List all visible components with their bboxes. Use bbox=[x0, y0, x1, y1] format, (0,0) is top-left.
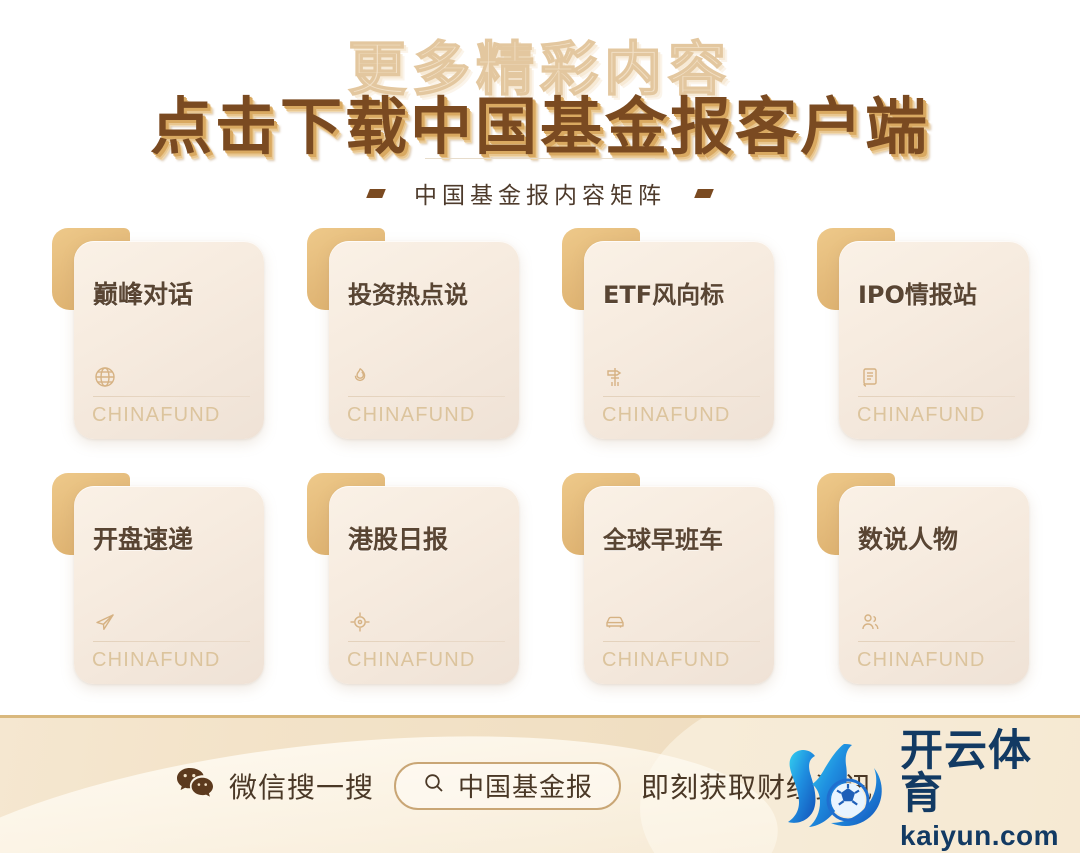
card-title: 巅峰对话 bbox=[93, 275, 193, 311]
card-grid: 巅峰对话 CHINAFUND bbox=[52, 228, 1037, 688]
card-brand: CHINAFUND bbox=[602, 649, 731, 672]
card-divider bbox=[858, 396, 1015, 397]
wechat-icon bbox=[175, 766, 215, 805]
card-divider bbox=[603, 396, 760, 397]
subtitle: 中国基金报内容矩阵 bbox=[414, 176, 666, 210]
bottom-bar: 微信搜一搜 中国基金报 即刻获取财经资讯 bbox=[0, 715, 1080, 853]
triple-left-arrow-icon bbox=[242, 371, 248, 383]
flame-icon bbox=[348, 365, 372, 389]
card-meta bbox=[93, 363, 248, 391]
card-divider bbox=[603, 641, 760, 642]
card-divider bbox=[93, 396, 250, 397]
card-slot: 全球早班车 CHINAFUND bbox=[562, 473, 774, 688]
poster-root: 更多精彩内容 点击下载中国基金报客户端 中国基金报内容矩阵 巅峰对话 bbox=[0, 0, 1080, 853]
card-slot: IPO情报站 CHINAFUND bbox=[817, 228, 1029, 443]
card-divider bbox=[348, 641, 505, 642]
search-pill[interactable]: 中国基金报 bbox=[394, 762, 621, 810]
header: 更多精彩内容 点击下载中国基金报客户端 中国基金报内容矩阵 bbox=[0, 0, 1080, 230]
card-title: 开盘速递 bbox=[93, 520, 193, 556]
search-icon bbox=[422, 771, 446, 800]
car-icon bbox=[603, 610, 627, 634]
document-icon bbox=[858, 365, 882, 389]
triple-left-arrow-icon bbox=[497, 371, 503, 383]
users-icon bbox=[858, 610, 882, 634]
content-card[interactable]: IPO情报站 CHINAFUND bbox=[839, 241, 1029, 439]
card-meta bbox=[348, 608, 503, 636]
page-title: 点击下载中国基金报客户端 bbox=[0, 76, 1080, 166]
card-title: 全球早班车 bbox=[603, 520, 723, 555]
card-divider bbox=[348, 396, 505, 397]
content-card[interactable]: 开盘速递 CHINAFUND bbox=[74, 486, 264, 684]
card-title: ETF风向标 bbox=[603, 275, 724, 310]
card-meta bbox=[858, 608, 1013, 636]
triple-left-arrow-icon bbox=[242, 616, 248, 628]
target-icon bbox=[348, 610, 372, 634]
card-brand: CHINAFUND bbox=[92, 649, 221, 672]
wechat-search-prompt: 微信搜一搜 bbox=[229, 766, 374, 806]
card-title: 投资热点说 bbox=[348, 275, 468, 310]
dash-right-icon bbox=[694, 189, 714, 198]
content-card[interactable]: 港股日报 CHINAFUND bbox=[329, 486, 519, 684]
triple-left-arrow-icon bbox=[1007, 616, 1013, 628]
card-meta bbox=[603, 363, 758, 391]
triple-left-arrow-icon bbox=[752, 371, 758, 383]
content-card[interactable]: 全球早班车 CHINAFUND bbox=[584, 486, 774, 684]
card-divider bbox=[858, 641, 1015, 642]
dash-left-icon bbox=[366, 189, 386, 198]
card-meta bbox=[603, 608, 758, 636]
card-brand: CHINAFUND bbox=[347, 649, 476, 672]
card-brand: CHINAFUND bbox=[857, 404, 986, 427]
card-title: 数说人物 bbox=[858, 520, 958, 556]
card-brand: CHINAFUND bbox=[602, 404, 731, 427]
card-brand: CHINAFUND bbox=[92, 404, 221, 427]
card-slot: 港股日报 CHINAFUND bbox=[307, 473, 519, 688]
card-slot: 投资热点说 CHINAFUND bbox=[307, 228, 519, 443]
card-title: IPO情报站 bbox=[858, 275, 977, 310]
card-title: 港股日报 bbox=[348, 520, 448, 556]
card-meta bbox=[858, 363, 1013, 391]
card-slot: 数说人物 CHINAFUND bbox=[817, 473, 1029, 688]
card-slot: 巅峰对话 CHINAFUND bbox=[52, 228, 264, 443]
weather-vane-icon bbox=[603, 365, 627, 389]
content-card[interactable]: 巅峰对话 CHINAFUND bbox=[74, 241, 264, 439]
content-card[interactable]: 数说人物 CHINAFUND bbox=[839, 486, 1029, 684]
search-keyword: 中国基金报 bbox=[458, 767, 593, 804]
card-brand: CHINAFUND bbox=[857, 649, 986, 672]
content-card[interactable]: 投资热点说 CHINAFUND bbox=[329, 241, 519, 439]
bottom-bar-content: 微信搜一搜 中国基金报 即刻获取财经资讯 bbox=[0, 718, 1080, 853]
globe-icon bbox=[93, 365, 117, 389]
card-meta bbox=[93, 608, 248, 636]
triple-left-arrow-icon bbox=[497, 616, 503, 628]
card-brand: CHINAFUND bbox=[347, 404, 476, 427]
card-divider bbox=[93, 641, 250, 642]
content-card[interactable]: ETF风向标 CHINAFUND bbox=[584, 241, 774, 439]
send-icon bbox=[93, 610, 117, 634]
card-slot: ETF风向标 CHINAFUND bbox=[562, 228, 774, 443]
subtitle-row: 中国基金报内容矩阵 bbox=[0, 176, 1080, 210]
bottom-bar-tail-text: 即刻获取财经资讯 bbox=[641, 766, 873, 806]
card-slot: 开盘速递 CHINAFUND bbox=[52, 473, 264, 688]
title-divider bbox=[425, 158, 655, 159]
triple-left-arrow-icon bbox=[752, 616, 758, 628]
triple-left-arrow-icon bbox=[1007, 371, 1013, 383]
card-meta bbox=[348, 363, 503, 391]
